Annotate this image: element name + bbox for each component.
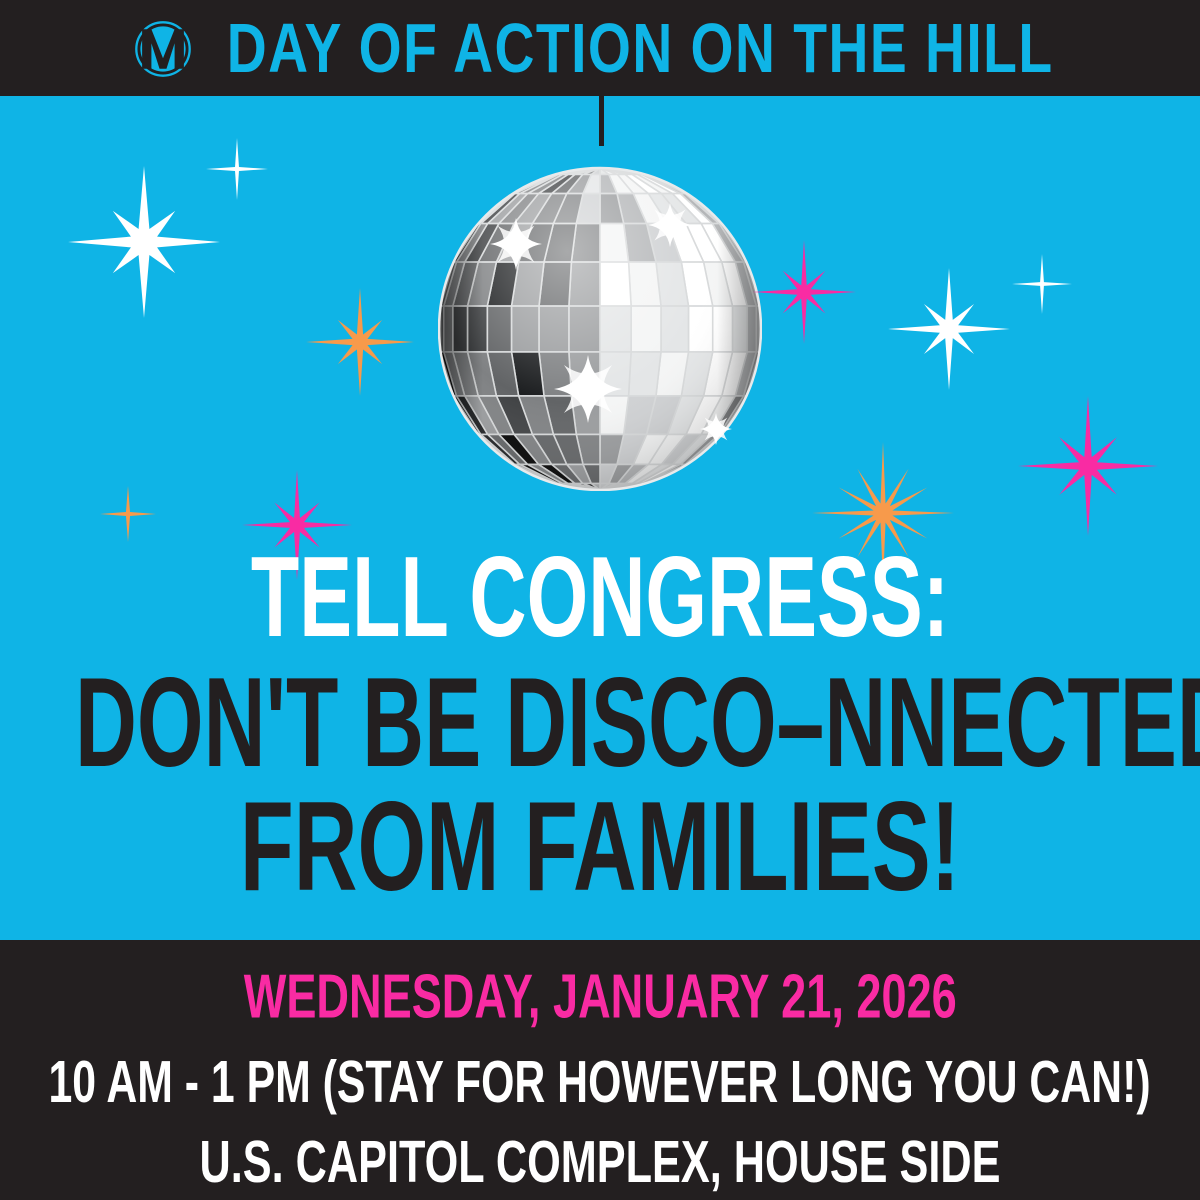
sparkle-star-white-small-left — [206, 138, 268, 200]
sparkle-star-white-right — [888, 268, 1010, 390]
m-circle-logo-icon — [134, 20, 192, 78]
sparkle-star-pink-far-right — [1018, 396, 1158, 536]
sparkle-star-white-small-right — [1012, 254, 1072, 314]
event-time: 10 AM - 1 PM (STAY FOR HOWEVER LONG YOU … — [49, 1051, 1151, 1111]
poster-canvas: DAY OF ACTION ON THE HILL — [0, 0, 1200, 1200]
event-date: WEDNESDAY, JANUARY 21, 2026 — [243, 967, 956, 1029]
sparkle-star-orange-tiny-left — [100, 486, 156, 542]
headline-block: TELL CONGRESS: DON'T BE DISCO–NNECTED FR… — [0, 554, 1200, 894]
disco-ball-icon — [438, 139, 762, 491]
event-location: U.S. CAPITOL COMPLEX, HOUSE SIDE — [200, 1131, 1001, 1191]
headline-line-1: TELL CONGRESS: — [60, 541, 1140, 653]
headline-line-3: FROM FAMILIES! — [60, 784, 1140, 909]
sparkle-star-pink-upper-right — [752, 240, 856, 344]
sparkle-star-orange-upper-left — [306, 288, 414, 396]
headline-line-2: DON'T BE DISCO–NNECTED — [75, 660, 1125, 785]
header-band: DAY OF ACTION ON THE HILL — [0, 0, 1200, 96]
header-title: DAY OF ACTION ON THE HILL — [227, 14, 1054, 84]
sparkle-star-white-large-left — [68, 166, 220, 318]
hero-stage: TELL CONGRESS: DON'T BE DISCO–NNECTED FR… — [0, 96, 1200, 940]
footer-band: WEDNESDAY, JANUARY 21, 2026 10 AM - 1 PM… — [0, 940, 1200, 1200]
